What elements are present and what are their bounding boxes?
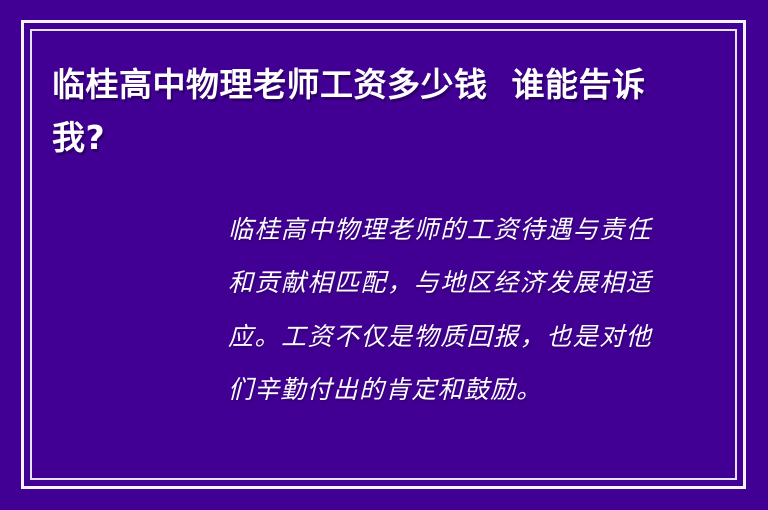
card-content: 临桂高中物理老师工资多少钱 谁能告诉我? 临桂高中物理老师的工资待遇与责任和贡献…	[0, 0, 768, 510]
article-body-text: 临桂高中物理老师的工资待遇与责任和贡献相匹配，与地区经济发展相适应。工资不仅是物…	[228, 203, 652, 416]
article-card: 临桂高中物理老师工资多少钱 谁能告诉我? 临桂高中物理老师的工资待遇与责任和贡献…	[0, 0, 768, 510]
page-title: 临桂高中物理老师工资多少钱 谁能告诉我?	[52, 58, 692, 165]
